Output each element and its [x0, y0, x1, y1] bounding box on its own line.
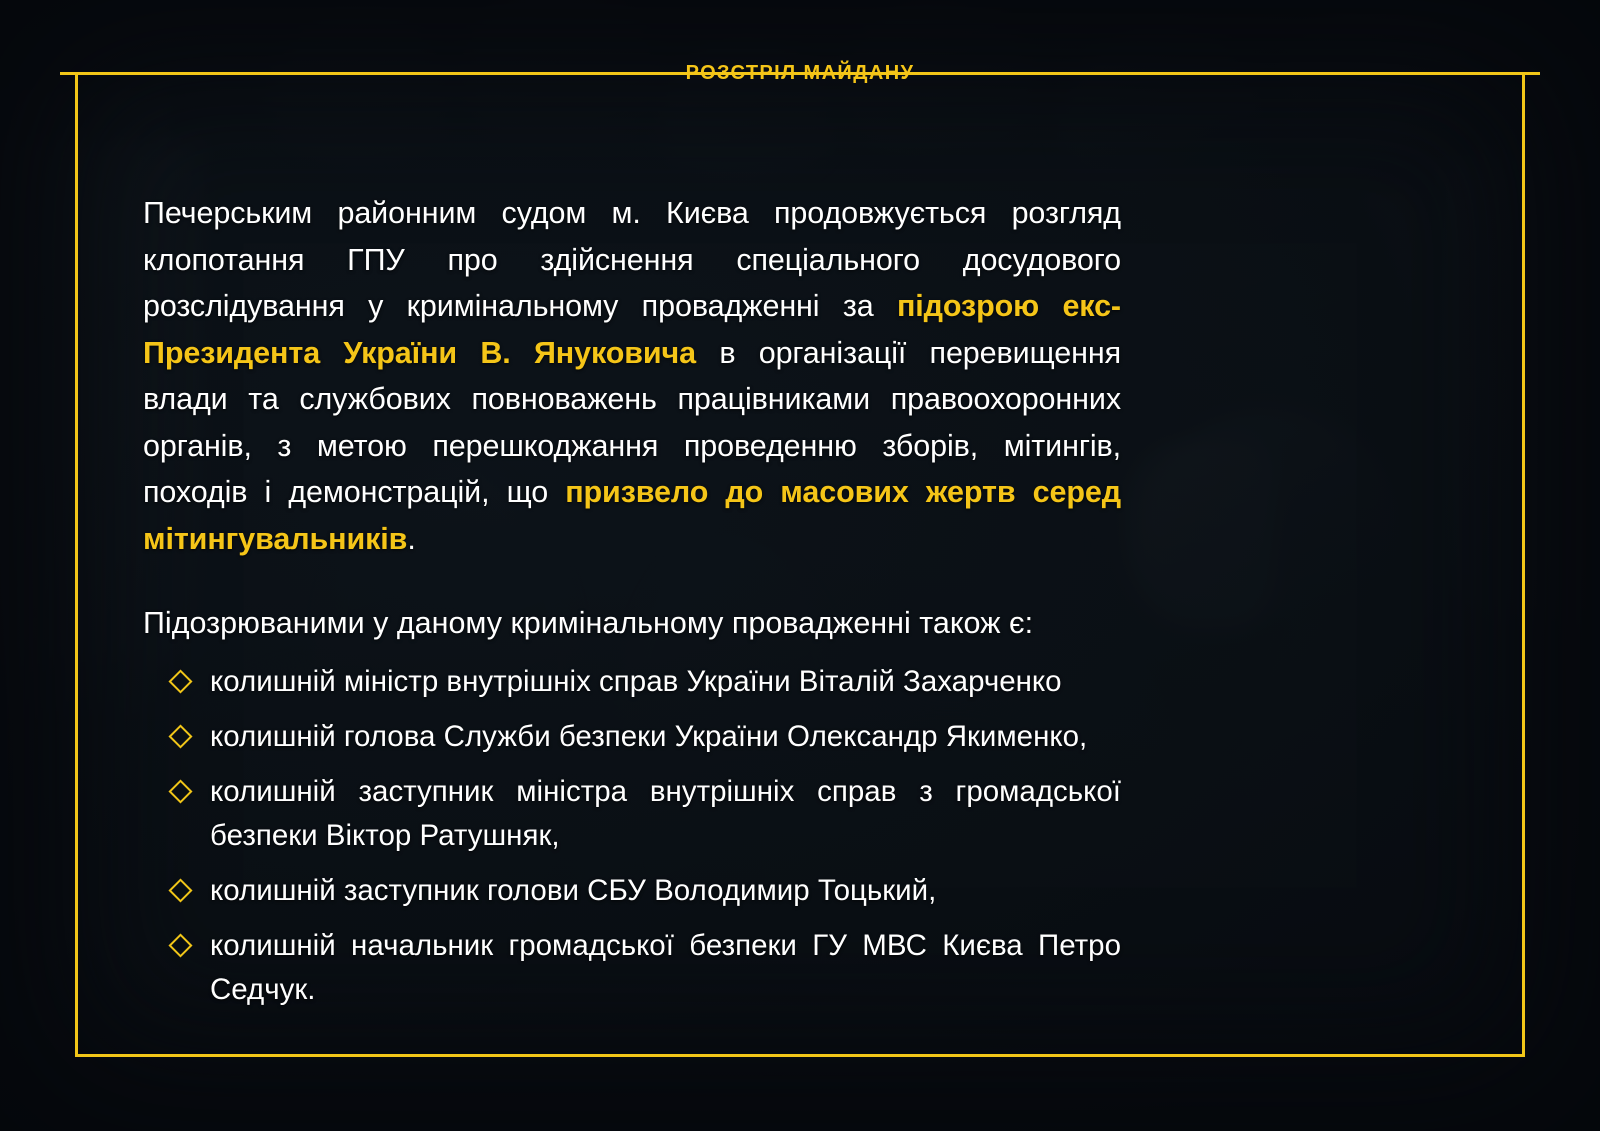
diamond-bullet-icon: [168, 779, 192, 803]
diamond-bullet-icon: [168, 933, 192, 957]
header-rule-right: [938, 72, 1540, 75]
list-item-label: колишній начальник громадської безпеки Г…: [210, 929, 1121, 1006]
diamond-bullet-icon: [168, 724, 192, 748]
list-item-label: колишній заступник голови СБУ Володимир …: [210, 874, 936, 907]
paragraph-part-3: .: [407, 522, 415, 556]
list-item-label: колишній заступник міністра внутрішніх с…: [210, 775, 1121, 852]
infographic-slide: РОЗСТРІЛ МАЙДАНУ Печерським районним суд…: [0, 0, 1600, 1131]
list-item: колишній заступник голови СБУ Володимир …: [172, 869, 1121, 913]
list-item: колишній заступник міністра внутрішніх с…: [172, 770, 1121, 858]
list-item: колишній голова Служби безпеки України О…: [172, 715, 1121, 759]
diamond-bullet-icon: [168, 878, 192, 902]
content-area: Печерським районним судом м. Києва продо…: [143, 190, 1121, 1023]
header-titlebar: РОЗСТРІЛ МАЙДАНУ: [75, 54, 1525, 92]
diamond-bullet-icon: [168, 669, 192, 693]
header-rule-left: [60, 72, 662, 75]
page-title: РОЗСТРІЛ МАЙДАНУ: [672, 63, 929, 83]
list-item: колишній міністр внутрішніх справ Україн…: [172, 660, 1121, 704]
main-paragraph: Печерським районним судом м. Києва продо…: [143, 190, 1121, 562]
suspects-list: колишній міністр внутрішніх справ Україн…: [143, 660, 1121, 1012]
suspects-lead-in: Підозрюваними у даному кримінальному про…: [143, 600, 1121, 646]
list-item-label: колишній голова Служби безпеки України О…: [210, 720, 1087, 753]
list-item-label: колишній міністр внутрішніх справ Україн…: [210, 665, 1062, 698]
list-item: колишній начальник громадської безпеки Г…: [172, 924, 1121, 1012]
